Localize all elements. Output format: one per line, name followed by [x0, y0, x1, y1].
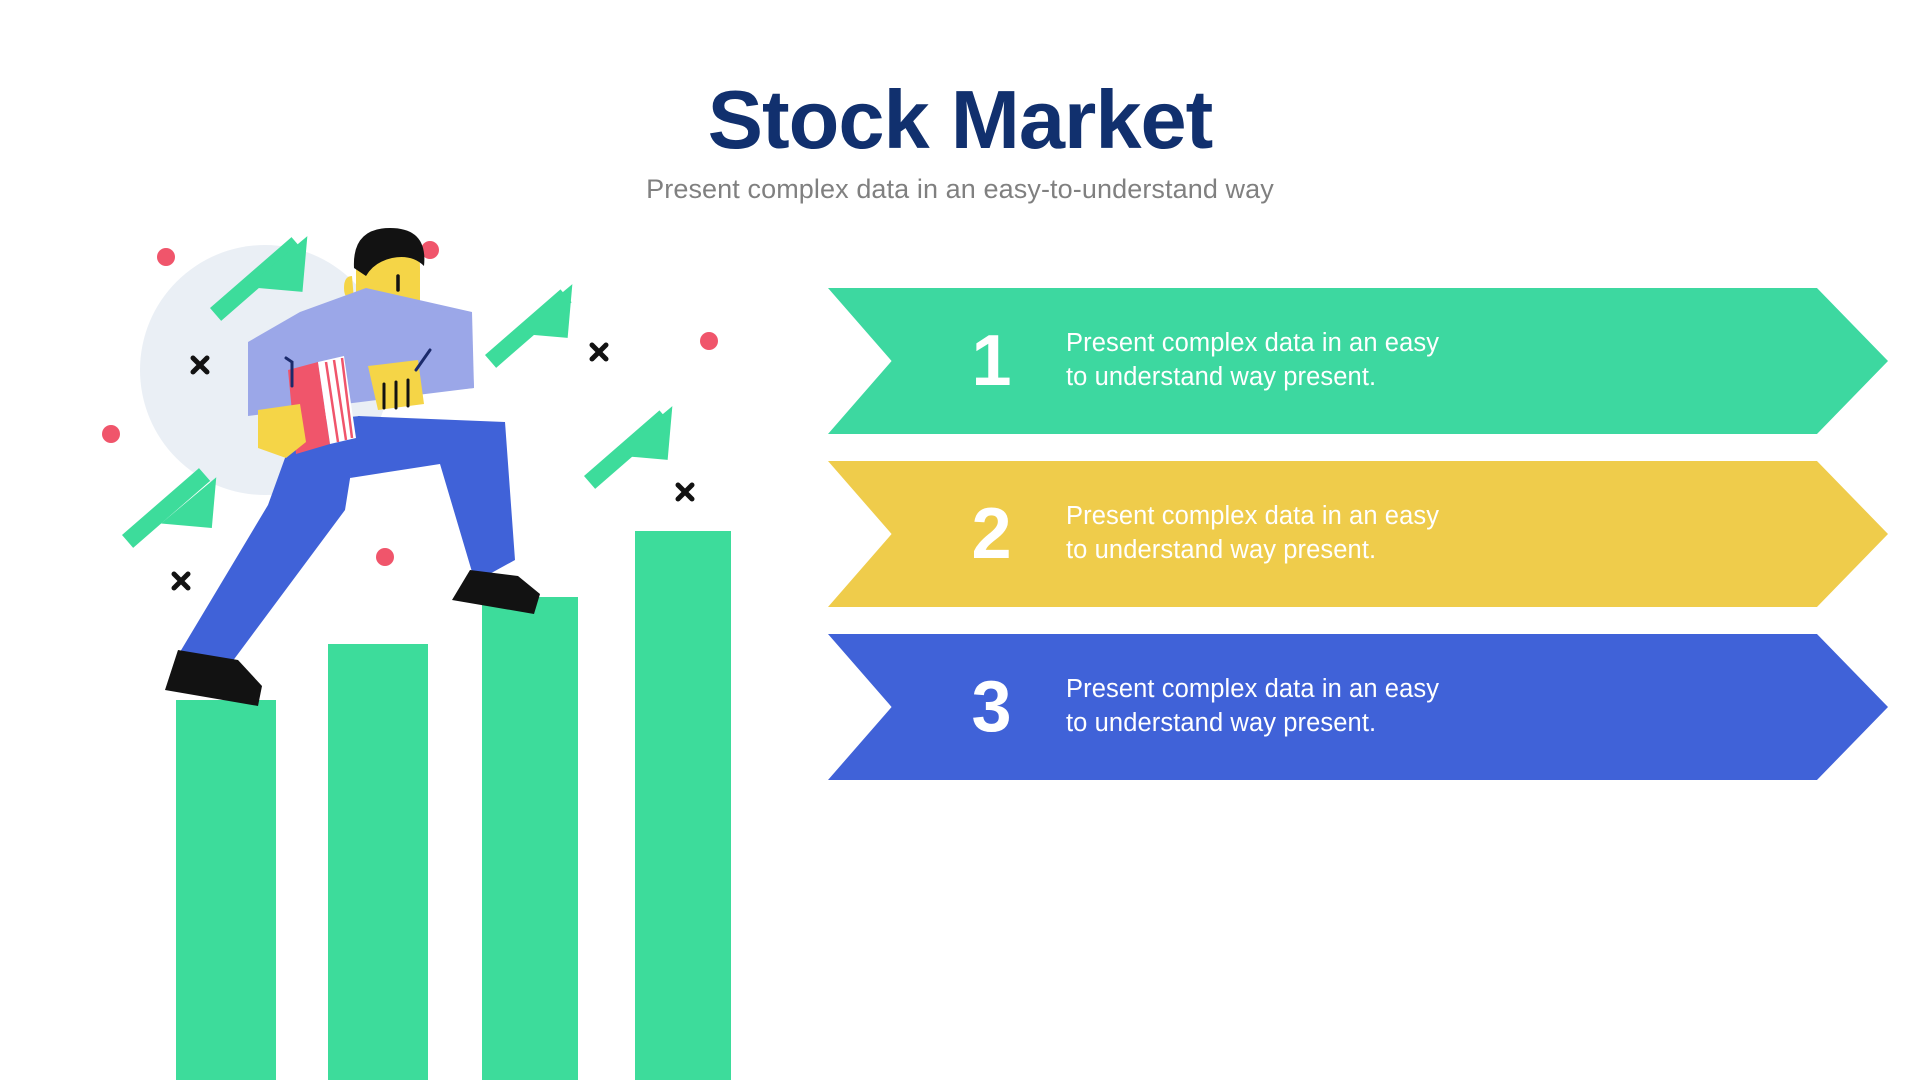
chart-bar-4	[635, 531, 731, 1080]
dot-decoration-4	[102, 425, 120, 443]
banner-text-2: Present complex data in an easy to under…	[1066, 500, 1439, 568]
banner-text-line1-2: Present complex data in an easy	[1066, 502, 1439, 530]
banner-list: 1 Present complex data in an easy to und…	[828, 288, 1920, 780]
illustration-panel	[0, 210, 830, 1080]
banner-number-3: 3	[916, 671, 1066, 743]
dot-decoration-5	[376, 548, 394, 566]
banner-text-1: Present complex data in an easy to under…	[1066, 327, 1439, 395]
character-right-leg	[350, 416, 515, 582]
character-right-shoe	[452, 570, 540, 614]
banner-text-line1-1: Present complex data in an easy	[1066, 329, 1439, 357]
chart-bar-2	[328, 644, 428, 1080]
banner-text-3: Present complex data in an easy to under…	[1066, 673, 1439, 741]
header: Stock Market Present complex data in an …	[0, 78, 1920, 205]
cross-decoration-3	[678, 485, 692, 499]
climbing-man-chart-illustration	[0, 210, 830, 1080]
banner-text-line2-3: to understand way present.	[1066, 707, 1439, 741]
dot-decoration-1	[157, 248, 175, 266]
chart-bar-3	[482, 597, 578, 1080]
arrow-up-right-icon-1	[122, 468, 216, 548]
banner-text-line2-2: to understand way present.	[1066, 534, 1439, 568]
slide-root: Stock Market Present complex data in an …	[0, 0, 1920, 1080]
page-title: Stock Market	[0, 78, 1920, 163]
banner-item-3[interactable]: 3 Present complex data in an easy to und…	[828, 634, 1888, 780]
banner-text-line2-1: to understand way present.	[1066, 361, 1439, 395]
banner-number-2: 2	[916, 498, 1066, 570]
dot-decoration-3	[700, 332, 718, 350]
character-left-shoe	[165, 650, 262, 706]
arrow-up-right-icon-3	[485, 279, 572, 367]
chart-bar-1	[176, 700, 276, 1080]
banner-item-2[interactable]: 2 Present complex data in an easy to und…	[828, 461, 1888, 607]
banner-item-1[interactable]: 1 Present complex data in an easy to und…	[828, 288, 1888, 434]
page-subtitle: Present complex data in an easy-to-under…	[0, 173, 1920, 205]
banner-number-1: 1	[916, 325, 1066, 397]
arrow-up-right-icon-4	[584, 401, 672, 488]
cross-decoration-4	[174, 574, 188, 588]
cross-decoration-2	[592, 345, 606, 359]
banner-text-line1-3: Present complex data in an easy	[1066, 675, 1439, 703]
